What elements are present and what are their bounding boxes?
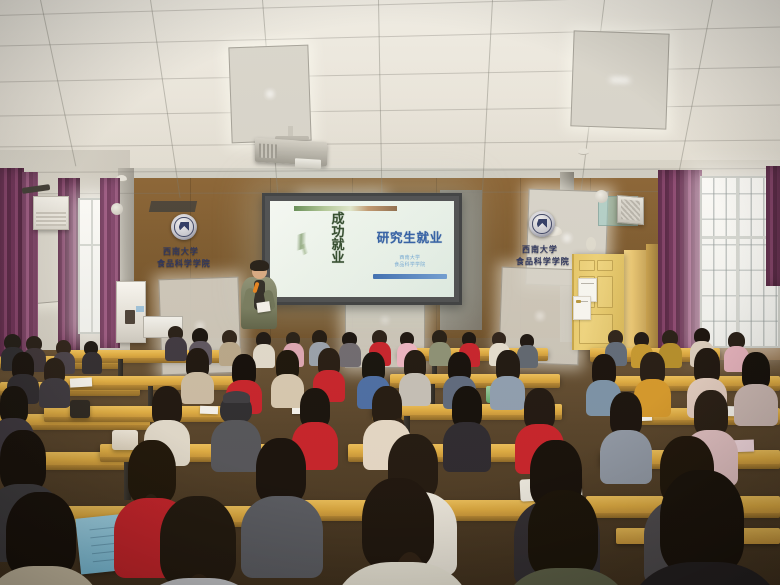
cabinet-control-panel[interactable] <box>125 310 135 324</box>
ceiling-light-panel <box>228 45 311 143</box>
white-utility-cabinet <box>116 281 146 343</box>
university-emblem-left <box>171 214 197 240</box>
ceiling-projector <box>255 140 327 170</box>
presenter-hair <box>250 260 269 271</box>
slide-subtitle-line2: 食品科学学院 <box>373 262 447 270</box>
slide-surface: 成 功 就 业 研究生就业 西南大学 食品科学学院 <box>270 201 454 297</box>
ceiling-vent <box>149 201 197 212</box>
projection-screen: 成 功 就 业 研究生就业 西南大学 食品科学学院 <box>262 193 462 305</box>
wall-plaque-right-line2: 食品科学学院 <box>516 256 570 267</box>
wall-sensor-icon <box>595 190 608 203</box>
wall-plaque-left-line1: 西南大学 <box>163 246 199 257</box>
projector-vent <box>259 143 277 158</box>
university-emblem-right <box>529 211 555 237</box>
smoke-detector-icon <box>578 148 589 155</box>
handout-paper <box>200 406 218 415</box>
wall-sensor-icon <box>111 203 123 215</box>
calligraphy-char: 业 <box>332 252 345 265</box>
calligraphy-char: 功 <box>332 226 345 239</box>
door-handle[interactable] <box>576 300 581 303</box>
wall-plaque-right-line1: 西南大学 <box>522 244 558 255</box>
calligraphy-char: 就 <box>332 239 345 252</box>
handout-paper <box>70 377 92 387</box>
ceiling-light-panel <box>570 30 669 129</box>
curtain-right-c <box>766 166 780 286</box>
speaker-mesh <box>621 199 640 221</box>
ac-grill <box>36 210 66 226</box>
door-frame <box>646 244 658 350</box>
slide-subtitle: 西南大学 食品科学学院 <box>373 255 447 270</box>
presenter-notes <box>256 301 270 313</box>
calligraphy-char: 成 <box>332 213 345 226</box>
slide-top-banner <box>294 206 397 211</box>
projector-lens <box>295 158 321 169</box>
wall-air-conditioner <box>33 196 69 230</box>
wall-speaker <box>617 195 644 225</box>
lecture-hall-photo: 西南大学 食品科学学院 西南大学 食品科学学院 成 功 就 业 研究生就业 西南… <box>0 0 780 585</box>
wall-clock-icon <box>586 237 596 251</box>
slide-accent-bar <box>373 274 447 279</box>
wall-plaque-left-line2: 食品科学学院 <box>157 258 211 269</box>
cabinet-label <box>136 306 144 312</box>
slide-title: 研究生就业 <box>369 227 450 246</box>
handbag-dark <box>70 400 90 418</box>
slide-calligraphy: 成 功 就 业 <box>310 213 365 288</box>
presenter <box>238 262 278 334</box>
